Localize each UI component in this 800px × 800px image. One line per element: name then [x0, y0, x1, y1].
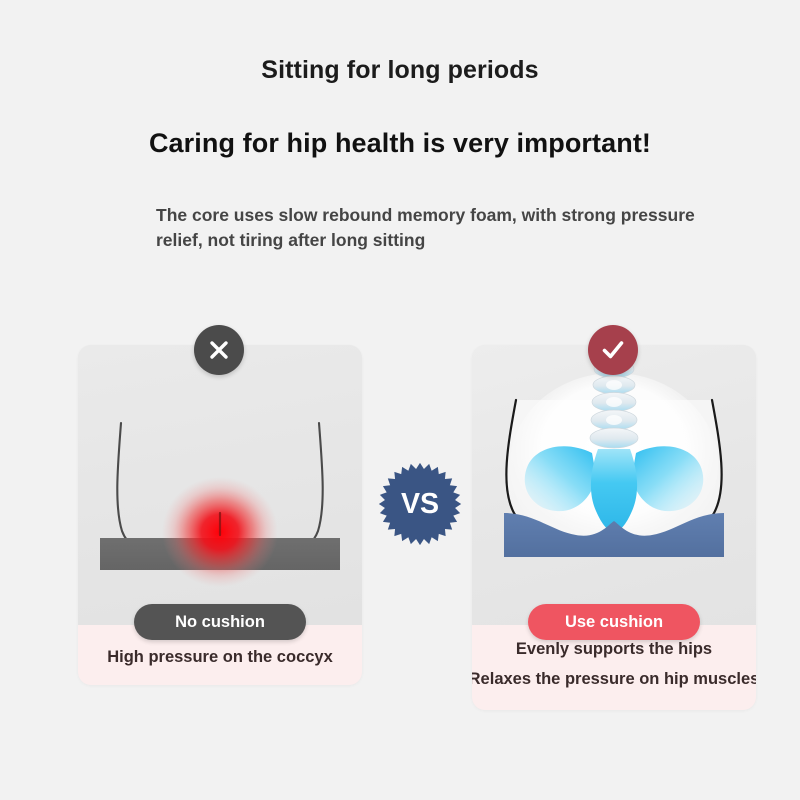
- label-use-cushion: Use cushion: [528, 604, 700, 640]
- illustration-hips-on-hard-seat: [78, 345, 362, 625]
- check-icon: [588, 325, 638, 375]
- vs-label: VS: [401, 488, 439, 520]
- illustration-hips-on-cushion: [472, 345, 756, 625]
- starburst-shape: VS: [378, 462, 462, 546]
- cross-icon: [194, 325, 244, 375]
- headline-secondary: Caring for hip health is very important!: [0, 128, 800, 159]
- product-description: The core uses slow rebound memory foam, …: [156, 203, 716, 253]
- caption-use-cushion-line-1: Evenly supports the hips: [472, 639, 756, 660]
- comparison-card-use-cushion: Evenly supports the hips Relaxes the pre…: [472, 345, 756, 710]
- caption-no-cushion: High pressure on the coccyx: [78, 647, 362, 668]
- infographic-page: Sitting for long periods Caring for hip …: [0, 0, 800, 800]
- vs-badge: VS: [378, 462, 462, 546]
- cushion-diagram: [472, 345, 756, 625]
- headline-primary: Sitting for long periods: [0, 56, 800, 85]
- label-no-cushion: No cushion: [134, 604, 306, 640]
- hard-seat-diagram: [78, 345, 362, 625]
- caption-use-cushion-line-2: Relaxes the pressure on hip muscles: [472, 669, 756, 690]
